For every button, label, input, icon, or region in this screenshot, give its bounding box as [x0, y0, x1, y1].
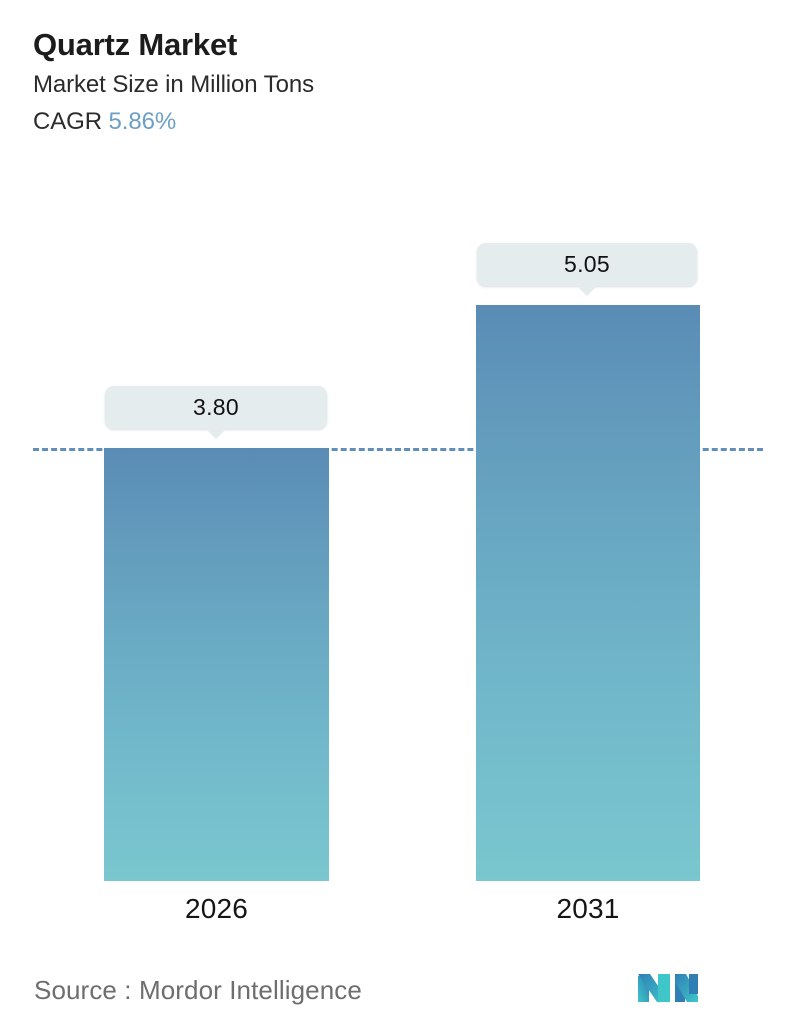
plot-area: 3.80 5.05 2026 2031 — [0, 0, 796, 1034]
data-label-2026: 3.80 — [105, 386, 327, 429]
data-label-2031: 5.05 — [477, 243, 697, 286]
chart-page: Quartz Market Market Size in Million Ton… — [0, 0, 796, 1034]
data-label-2026-value: 3.80 — [193, 394, 239, 421]
data-label-2031-value: 5.05 — [564, 251, 610, 278]
bar-2031[interactable] — [476, 305, 700, 881]
source-attribution: Source : Mordor Intelligence — [34, 975, 362, 1006]
mordor-intelligence-logo-icon — [637, 962, 699, 1010]
x-axis-label-2026: 2026 — [104, 893, 329, 925]
x-axis-label-2031: 2031 — [476, 893, 700, 925]
bar-2026[interactable] — [104, 448, 329, 881]
